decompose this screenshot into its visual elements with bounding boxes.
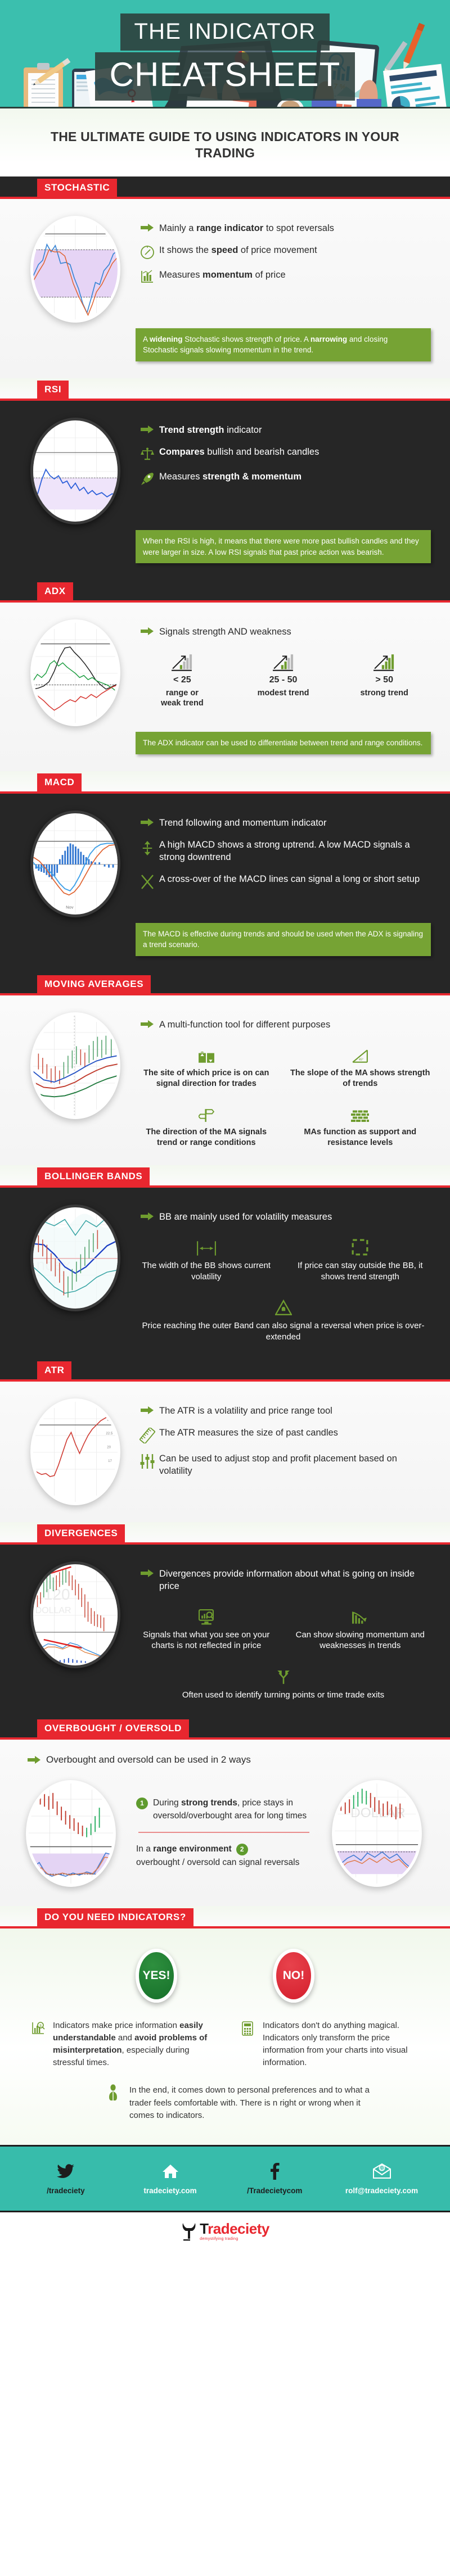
yes-column: $ Indicators make price information easi… — [31, 2020, 209, 2068]
bull-horns-icon — [181, 2222, 202, 2241]
brand-bar: Tradeciety demystifying trading — [0, 2212, 450, 2254]
tile-caption: strong trend — [337, 688, 431, 698]
bullet-text: Compares bullish and bearish candles — [159, 446, 319, 459]
chart-thumb-wrap-divergences: 120 DOLLAR — [15, 1559, 136, 1668]
section-tab-overbought[interactable]: OVERBOUGHT / OVERSOLD — [37, 1719, 189, 1737]
tile-adx-2: 25 - 50modest trend — [237, 648, 330, 708]
footer-item-facebook[interactable]: /Tradecietycom — [241, 2160, 308, 2195]
chart-thumb-wrap-stochastic — [15, 214, 136, 323]
arrow-right-icon — [136, 1019, 159, 1029]
cells-moving-averages: The site of which price is on can signal… — [136, 1041, 431, 1148]
tiles-adx: < 25range orweak trend 25 - 50modest tre… — [136, 648, 431, 708]
bullet-macd-2: A high MACD shows a strong uptrend. A lo… — [136, 839, 431, 864]
svg-text:120: 120 — [43, 1586, 70, 1603]
bullet-text: The ATR measures the size of past candle… — [159, 1427, 338, 1439]
final-note: In the end, it comes down to personal pr… — [0, 2074, 450, 2145]
callout-macd: The MACD is effective during trends and … — [136, 923, 431, 956]
footer-label-website: tradeciety.com — [137, 2186, 204, 2195]
section-divergences: 120 DOLLAR — [0, 1545, 450, 1717]
no-pill: NO! — [273, 1949, 314, 2003]
chart-thumb-rsi — [30, 418, 120, 524]
callout-adx: The ADX indicator can be used to differe… — [136, 732, 431, 754]
cells-bollinger-bands: The width of the BB shows current volati… — [136, 1233, 431, 1282]
cell-divergences-1: Signals that what you see on your charts… — [136, 1602, 277, 1651]
bullet-adx-1: Signals strength AND weakness — [136, 626, 431, 639]
cell-divergences-2: Can show slowing momentum and weaknesses… — [290, 1602, 431, 1651]
section-adx: 14Signals strength AND weakness < 25rang… — [0, 603, 450, 771]
bullets-rsi: Trend strength indicator Compares bullis… — [136, 415, 431, 496]
section-tab-divergences[interactable]: DIVERGENCES — [37, 1524, 125, 1542]
bullet-atr-1: The ATR is a volatility and price range … — [136, 1405, 431, 1418]
twitter-icon — [32, 2160, 100, 2183]
chart-thumb-bollinger-bands: ndex — [30, 1205, 120, 1311]
chart-thumb-moving-averages — [30, 1012, 120, 1119]
chart-thumb-overbought-trend — [26, 1780, 116, 1887]
arrow-right-icon — [136, 223, 159, 232]
section-tab-stochastic[interactable]: STOCHASTIC — [37, 179, 117, 197]
svg-text:@: @ — [380, 2167, 384, 2171]
chart-thumb-adx: 14 — [30, 619, 120, 726]
cell-text: Can show slowing momentum and weaknesses… — [290, 1629, 431, 1651]
section-tab-need-indicators[interactable]: DO YOU NEED INDICATORS? — [37, 1908, 193, 1926]
section-macd: NovTrend following and momentum indicato… — [0, 794, 450, 973]
cell-moving-averages-1: The site of which price is on can signal… — [136, 1041, 277, 1089]
fork-arrows-icon — [136, 1663, 431, 1685]
cell-text: The site of which price is on can signal… — [136, 1068, 277, 1089]
signal-bars-low-icon — [136, 648, 229, 672]
tile-caption: range orweak trend — [136, 688, 229, 708]
envelope-at-icon: @ — [345, 2160, 418, 2183]
title-line-1: THE INDICATOR — [120, 13, 329, 51]
speedometer-icon — [136, 245, 159, 260]
bullet-divergences-1: Divergences provide information about wh… — [136, 1568, 431, 1593]
cell-text: MAs function as support and resistance l… — [290, 1127, 431, 1148]
tile-value: 25 - 50 — [237, 675, 330, 685]
chart-thumb-wrap-rsi — [15, 415, 136, 524]
crossover-icon — [136, 873, 159, 890]
bullet-bollinger-bands-1: BB are mainly used for volatility measur… — [136, 1211, 431, 1224]
subtitle-text: THE ULTIMATE GUIDE TO USING INDICATORS I… — [22, 129, 427, 162]
tile-caption: modest trend — [237, 688, 330, 698]
arrow-right-icon — [136, 817, 159, 827]
tile-value: < 25 — [136, 675, 229, 685]
final-note-text: In the end, it comes down to personal pr… — [129, 2084, 382, 2122]
number-badge-2: 2 — [236, 1844, 248, 1855]
footer-items: /tradeciety tradeciety.com /Tradecietyco… — [0, 2160, 450, 2195]
section-tab-adx[interactable]: ADX — [37, 582, 73, 600]
sliders-icon — [136, 1453, 159, 1469]
cell-text: The direction of the MA signals trend or… — [136, 1127, 277, 1148]
cell-wide-bollinger-bands: Price reaching the outer Band can also s… — [136, 1293, 431, 1342]
hero-title-block: THE INDICATOR CHEATSHEET — [0, 13, 450, 101]
callout-rsi: When the RSI is high, it means that ther… — [136, 530, 431, 563]
bullet-stochastic-3: Measures momentum of price — [136, 269, 431, 283]
tile-adx-1: < 25range orweak trend — [136, 648, 229, 708]
section-overbought: Overbought and oversold can be used in 2… — [0, 1740, 450, 1906]
ruler-icon — [136, 1427, 159, 1443]
chart-dollar-icon: $ — [31, 2020, 53, 2036]
hero-banner: 7 % — [0, 0, 450, 107]
footer-item-website[interactable]: tradeciety.com — [137, 2160, 204, 2195]
dashed-box-icon — [290, 1233, 431, 1256]
bullet-text: Divergences provide information about wh… — [159, 1568, 431, 1593]
svg-text:20: 20 — [107, 1446, 111, 1450]
bullets-atr: The ATR is a volatility and price range … — [136, 1396, 431, 1487]
section-stochastic: Mainly a range indicator to spot reversa… — [0, 199, 450, 378]
tabbar-stochastic: STOCHASTIC — [0, 176, 450, 197]
yes-no-columns: $ Indicators make price information easi… — [0, 2017, 450, 2074]
page-subtitle: THE ULTIMATE GUIDE TO USING INDICATORS I… — [0, 108, 450, 176]
bullet-text: A high MACD shows a strong uptrend. A lo… — [159, 839, 431, 864]
no-column-text: Indicators don't do anything magical. In… — [263, 2020, 418, 2068]
section-atr: 2522.52017 The ATR is a volatility and p… — [0, 1382, 450, 1522]
bullet-moving-averages-1: A multi-function tool for different purp… — [136, 1019, 431, 1031]
infographic-page: 7 % — [0, 0, 450, 2254]
tile-value: > 50 — [337, 675, 431, 685]
bullet-rsi-3: Measures strength & momentum — [136, 471, 431, 486]
bullet-macd-3: A cross-over of the MACD lines can signa… — [136, 873, 431, 890]
tabbar-moving-averages: MOVING AVERAGES — [0, 973, 450, 993]
section-bollinger-bands: ndex BB are mainly used for volatility m… — [0, 1188, 450, 1359]
arrow-right-icon — [136, 626, 159, 636]
section-moving-averages: A multi-function tool for different purp… — [0, 995, 450, 1165]
chart-thumb-divergences: 120 DOLLAR — [30, 1561, 120, 1668]
bullet-text: Mainly a range indicator to spot reversa… — [159, 223, 334, 235]
chart-thumb-wrap-adx: 14 — [15, 617, 136, 726]
bullet-stochastic-2: It shows the speed of price movement — [136, 245, 431, 260]
cell-wide-text: Price reaching the outer Band can also s… — [136, 1320, 431, 1342]
cell-moving-averages-4: MAs function as support and resistance l… — [290, 1100, 431, 1148]
chart-thumb-atr: 2522.52017 — [30, 1398, 120, 1505]
cell-text: The slope of the MA shows strength of tr… — [290, 1068, 431, 1089]
section-rsi: Trend strength indicator Compares bullis… — [0, 401, 450, 580]
overbought-item-1-text: During strong trends, price stays in ove… — [153, 1796, 312, 1823]
person-icon — [107, 2084, 129, 2122]
chart-thumb-wrap-atr: 2522.52017 — [15, 1396, 136, 1505]
cell-text: Signals that what you see on your charts… — [136, 1629, 277, 1651]
svg-text:DOLLAR: DOLLAR — [350, 1805, 405, 1821]
rocket-icon — [136, 471, 159, 486]
bullet-text: BB are mainly used for volatility measur… — [159, 1211, 332, 1224]
section-tab-bollinger-bands[interactable]: BOLLINGER BANDS — [37, 1167, 150, 1185]
bullets-adx: Signals strength AND weakness < 25range … — [136, 617, 431, 708]
signpost-icon — [136, 1100, 277, 1122]
cell-moving-averages-3: The direction of the MA signals trend or… — [136, 1100, 277, 1148]
bullets-stochastic: Mainly a range indicator to spot reversa… — [136, 214, 431, 293]
tabbar-bollinger-bands: BOLLINGER BANDS — [0, 1165, 450, 1185]
svg-text:$: $ — [39, 2024, 42, 2028]
brick-wall-icon — [290, 1100, 431, 1122]
section-need-indicators: YES! NO! $ Indicators make p — [0, 1928, 450, 2145]
cell-wide-text: Often used to identify turning points or… — [136, 1690, 431, 1701]
bullet-text: A multi-function tool for different purp… — [159, 1019, 330, 1031]
svg-text:17: 17 — [108, 1459, 112, 1463]
overbought-row: 1 During strong trends, price stays in o… — [15, 1778, 433, 1887]
chart-thumb-overbought-range: DOLLAR — [332, 1780, 422, 1887]
tradeciety-logo[interactable]: Tradeciety demystifying trading — [181, 2221, 269, 2241]
up-down-arrows-icon — [136, 839, 159, 857]
bullet-text: It shows the speed of price movement — [159, 245, 317, 257]
scales-icon — [136, 446, 159, 461]
section-tab-macd[interactable]: MACD — [37, 773, 82, 791]
cell-bollinger-bands-1: The width of the BB shows current volati… — [136, 1233, 277, 1282]
bullet-rsi-1: Trend strength indicator — [136, 424, 431, 437]
bullets-moving-averages: A multi-function tool for different purp… — [136, 1010, 431, 1148]
arrow-right-icon — [22, 1755, 46, 1764]
chart-thumb-macd: Nov — [30, 811, 120, 917]
arrow-right-icon — [136, 1568, 159, 1578]
bullet-text: Signals strength AND weakness — [159, 626, 291, 639]
overbought-lead: Overbought and oversold can be used in 2… — [22, 1754, 433, 1765]
no-column: Indicators don't do anything magical. In… — [241, 2020, 418, 2068]
width-measure-icon — [136, 1233, 277, 1256]
cell-text: The width of the BB shows current volati… — [136, 1260, 277, 1282]
overbought-item-2-text: In a range environment2 overbought / ove… — [136, 1842, 299, 1869]
bullet-text: The ATR is a volatility and price range … — [159, 1405, 332, 1418]
bullet-atr-2: The ATR measures the size of past candle… — [136, 1427, 431, 1443]
sections-container: STOCHASTIC Mainly a range indicator to s… — [0, 176, 450, 1718]
overbought-item-1: 1 During strong trends, price stays in o… — [136, 1796, 312, 1823]
svg-text:45°: 45° — [359, 1058, 363, 1061]
alert-triangle-icon — [136, 1293, 431, 1316]
footer-label-facebook: /Tradecietycom — [241, 2186, 308, 2195]
arrow-right-icon — [136, 424, 159, 434]
arrow-right-icon — [136, 1211, 159, 1221]
cell-wide-divergences: Often used to identify turning points or… — [136, 1663, 431, 1701]
bullet-text: Trend strength indicator — [159, 424, 262, 437]
signal-bars-mid-icon — [237, 648, 330, 672]
facebook-icon — [241, 2160, 308, 2183]
monitor-search-icon — [136, 1602, 277, 1625]
yes-no-pill-row: YES! NO! — [0, 1928, 450, 2017]
signal-bars-high-icon — [337, 648, 431, 672]
title-line-2: CHEATSHEET — [95, 52, 355, 101]
overbought-lead-text: Overbought and oversold can be used in 2… — [46, 1754, 251, 1765]
cell-moving-averages-2: 45°The slope of the MA shows strength of… — [290, 1041, 431, 1089]
tabbar-rsi: RSI — [0, 378, 450, 399]
bullet-text: A cross-over of the MACD lines can signa… — [159, 873, 420, 886]
cell-text: If price can stay outside the BB, it sho… — [290, 1260, 431, 1282]
yes-pill: YES! — [136, 1949, 177, 2003]
footer-label-email: rolf@tradeciety.com — [345, 2186, 418, 2195]
bullets-bollinger-bands: BB are mainly used for volatility measur… — [136, 1202, 431, 1342]
chart-thumb-wrap-macd: Nov — [15, 808, 136, 917]
svg-text:14: 14 — [43, 718, 48, 722]
callout-stochastic: A widening Stochastic shows strength of … — [136, 328, 431, 361]
chart-thumb-stochastic — [30, 216, 120, 323]
section-tab-moving-averages[interactable]: MOVING AVERAGES — [37, 975, 151, 993]
brand-tagline: demystifying trading — [200, 2237, 269, 2241]
up-down-boxes-icon — [136, 1041, 277, 1063]
number-badge-1: 1 — [136, 1798, 148, 1809]
bullet-text: Measures momentum of price — [159, 269, 286, 282]
svg-text:DOLLAR: DOLLAR — [35, 1606, 71, 1615]
tabbar-atr: ATR — [0, 1359, 450, 1379]
chart-thumb-wrap-bollinger-bands: ndex — [15, 1202, 136, 1311]
bullet-text: Measures strength & momentum — [159, 471, 301, 483]
arrow-right-icon — [136, 1405, 159, 1415]
svg-text:25: 25 — [107, 1418, 111, 1422]
footer-item-twitter[interactable]: /tradeciety — [32, 2160, 100, 2195]
bullet-text: Trend following and momentum indicator — [159, 817, 326, 830]
footer-label-twitter: /tradeciety — [32, 2186, 100, 2195]
declining-bars-icon — [290, 1602, 431, 1625]
svg-text:Nov: Nov — [66, 904, 74, 909]
angle-45-icon: 45° — [290, 1041, 431, 1063]
tabbar-adx: ADX — [0, 580, 450, 600]
footer-bar: /tradeciety tradeciety.com /Tradecietyco… — [0, 2147, 450, 2211]
bullets-macd: Trend following and momentum indicator A… — [136, 808, 431, 899]
calculator-icon — [241, 2020, 263, 2036]
svg-text:22.5: 22.5 — [106, 1432, 112, 1436]
overbought-separator — [138, 1832, 309, 1833]
overbought-tabbar: OVERBOUGHT / OVERSOLD — [0, 1717, 450, 1737]
bullets-divergences: Divergences provide information about wh… — [136, 1559, 431, 1700]
yes-column-text: Indicators make price information easily… — [53, 2020, 209, 2068]
footer-item-email[interactable]: @ rolf@tradeciety.com — [345, 2160, 418, 2195]
need-tabbar: DO YOU NEED INDICATORS? — [0, 1906, 450, 1926]
tile-adx-3: > 50strong trend — [337, 648, 431, 708]
cells-divergences: Signals that what you see on your charts… — [136, 1602, 431, 1651]
section-tab-atr[interactable]: ATR — [37, 1361, 71, 1379]
home-icon — [137, 2160, 204, 2183]
overbought-item-2: In a range environment2 overbought / ove… — [136, 1842, 312, 1869]
bullet-macd-1: Trend following and momentum indicator — [136, 817, 431, 830]
section-tab-rsi[interactable]: RSI — [37, 381, 69, 399]
overbought-middle: 1 During strong trends, price stays in o… — [130, 1796, 317, 1869]
bullet-atr-3: Can be used to adjust stop and profit pl… — [136, 1453, 431, 1478]
bullet-stochastic-1: Mainly a range indicator to spot reversa… — [136, 223, 431, 235]
chart-thumb-wrap-moving-averages — [15, 1010, 136, 1119]
brand-name: Tradeciety — [200, 2221, 269, 2236]
cell-bollinger-bands-2: If price can stay outside the BB, it sho… — [290, 1233, 431, 1282]
bullet-text: Can be used to adjust stop and profit pl… — [159, 1453, 431, 1478]
bar-chart-icon — [136, 269, 159, 283]
tabbar-macd: MACD — [0, 771, 450, 791]
tabbar-divergences: DIVERGENCES — [0, 1522, 450, 1542]
bullet-rsi-2: Compares bullish and bearish candles — [136, 446, 431, 461]
